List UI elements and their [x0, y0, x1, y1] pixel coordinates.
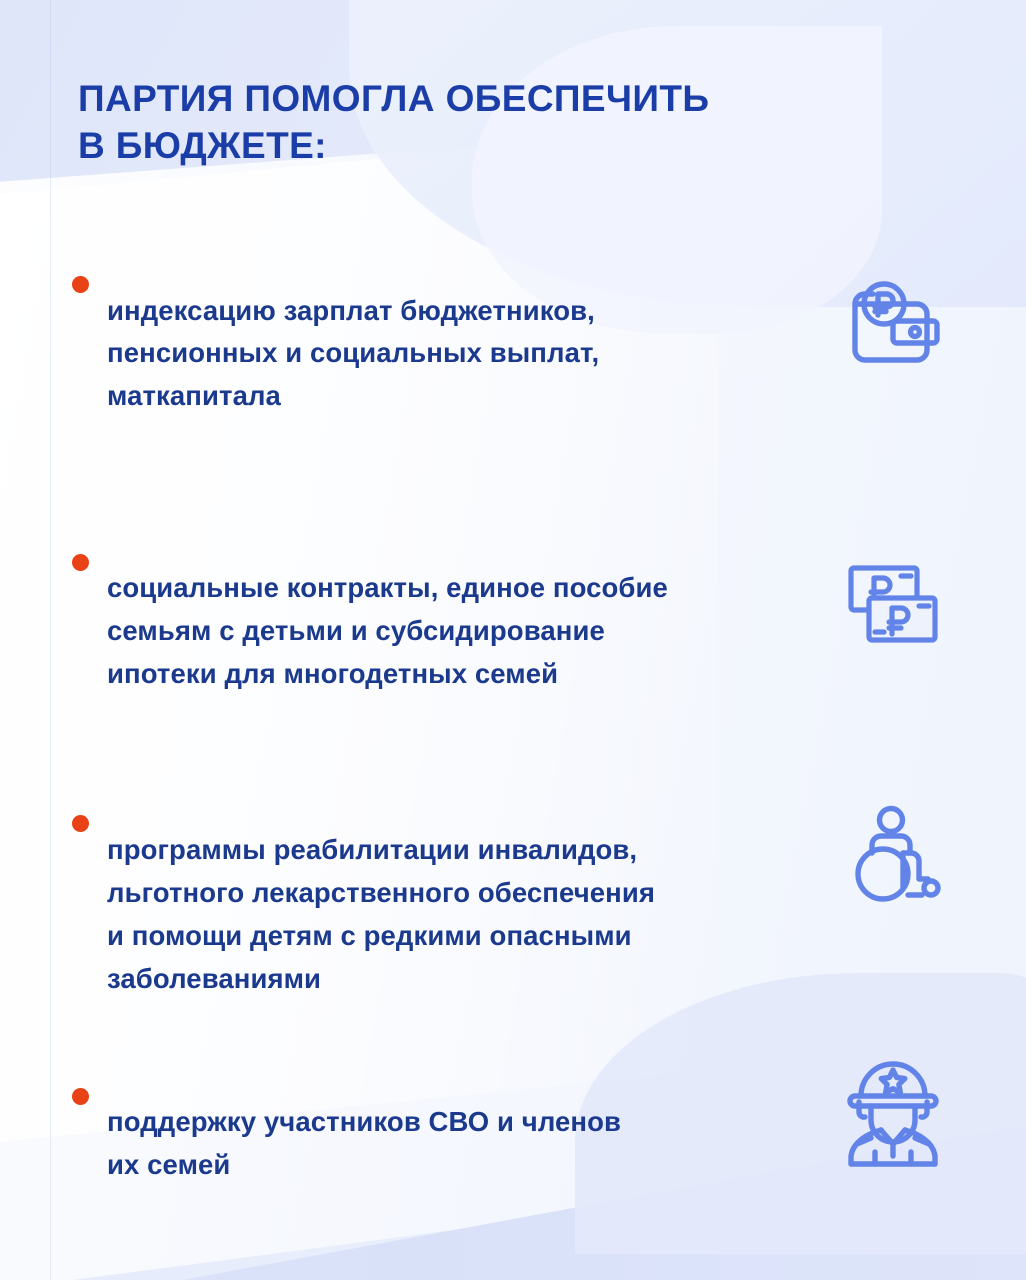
bullet-dot-icon [72, 276, 89, 293]
banknotes-ruble-icon [833, 560, 953, 670]
list-item: индексацию зарплат бюджетников, пенсионн… [0, 262, 1026, 446]
list-item: социальные контракты, единое пособие сем… [0, 540, 1026, 724]
list-item-label: социальные контракты, единое пособие сем… [107, 567, 829, 696]
list-item: программы реабилитации инвалидов, льготн… [0, 801, 1026, 1028]
wheelchair-accessibility-icon [833, 805, 953, 915]
poster-content: ПАРТИЯ ПОМОГЛА ОБЕСПЕЧИТЬ В БЮДЖЕТЕ: инд… [0, 0, 1026, 1280]
bullet-dot-icon [72, 815, 89, 832]
benefits-list: индексацию зарплат бюджетников, пенсионн… [0, 262, 1026, 1215]
list-item-label: программы реабилитации инвалидов, льготн… [107, 829, 829, 1001]
bullet-dot-icon [72, 554, 89, 571]
list-item-label: поддержку участников СВО и членов их сем… [107, 1101, 829, 1187]
list-item: поддержку участников СВО и членов их сем… [0, 1074, 1026, 1215]
soldier-icon [833, 1052, 953, 1162]
list-item-label: индексацию зарплат бюджетников, пенсионн… [107, 290, 829, 419]
page-title: ПАРТИЯ ПОМОГЛА ОБЕСПЕЧИТЬ В БЮДЖЕТЕ: [78, 75, 838, 170]
infographic-poster: ПАРТИЯ ПОМОГЛА ОБЕСПЕЧИТЬ В БЮДЖЕТЕ: инд… [0, 0, 1026, 1280]
wallet-ruble-icon [833, 278, 953, 388]
bullet-dot-icon [72, 1088, 89, 1105]
